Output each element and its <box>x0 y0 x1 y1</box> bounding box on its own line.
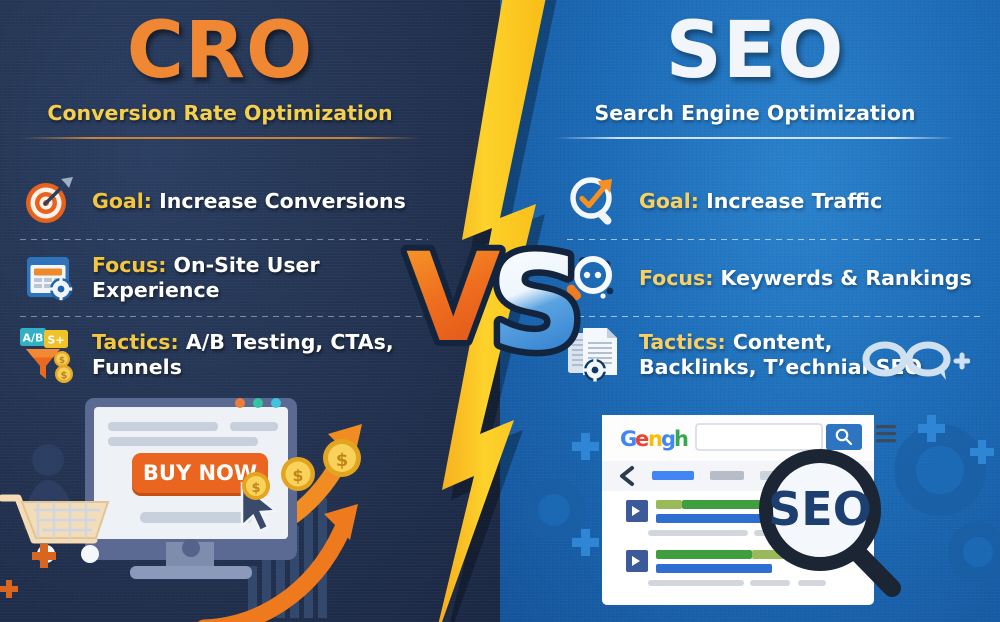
infographic-canvas: CRO Conversion Rate Optimization SEO Sea… <box>0 0 1000 622</box>
svg-text:V: V <box>406 232 500 362</box>
search-input-box <box>696 424 822 450</box>
search-logo: Gengh <box>620 427 689 451</box>
glasses-plus-icon <box>858 335 970 393</box>
cro-divider-rule <box>20 137 420 139</box>
seo-row-focus-text: Focus: Keywerds & Rankings <box>639 266 972 291</box>
cro-title: CRO <box>20 12 420 90</box>
cro-row-tactics-text: Tactics: A/B Testing, CTAs, Funnels <box>92 330 430 380</box>
seo-magnifier-label: SEO <box>768 482 872 536</box>
search-button <box>826 424 862 450</box>
seo-focus-value: Keywerds & Rankings <box>721 266 972 290</box>
svg-text:S+: S+ <box>47 334 64 347</box>
seo-row-goal-text: Goal: Increase Traffic <box>639 189 882 214</box>
cro-separator-1 <box>20 239 428 240</box>
window-dots <box>235 398 281 408</box>
seo-header: SEO Search Engine Optimization <box>555 12 955 139</box>
magnifier-check-arrow-icon <box>565 172 627 230</box>
seo-row-goal: Goal: Increase Traffic <box>565 172 985 230</box>
cro-separator-2 <box>20 316 428 317</box>
svg-text:S: S <box>490 232 584 362</box>
plus-marks <box>0 544 56 598</box>
svg-text:$: $ <box>61 370 68 381</box>
cro-tactics-key: Tactics: <box>92 330 179 354</box>
cro-goal-value: Increase Conversions <box>159 189 406 213</box>
seo-focus-key: Focus: <box>639 266 713 290</box>
seo-tactics-key: Tactics: <box>639 330 726 354</box>
cro-focus-key: Focus: <box>92 253 166 277</box>
cro-row-goal: Goal: Increase Conversions <box>18 172 430 230</box>
cro-goal-key: Goal: <box>92 189 152 213</box>
seo-divider-rule <box>555 137 955 139</box>
svg-text:$: $ <box>59 356 65 366</box>
cro-row-tactics: A/B S+ $ $ Tactics: A/B Testing, CTAs, F… <box>18 326 430 384</box>
seo-title: SEO <box>555 12 955 90</box>
ecommerce-conversion-illustration: BUY NOW $ $ $ <box>0 390 410 622</box>
svg-text:h: h <box>674 427 689 451</box>
cro-bullet-list: Goal: Increase Conversions <box>18 172 430 384</box>
svg-text:A/B: A/B <box>23 332 44 345</box>
seo-row-focus: Focus: Keywerds & Rankings <box>565 249 985 307</box>
hamburger-menu-lines <box>876 425 896 442</box>
seo-goal-key: Goal: <box>639 189 699 213</box>
svg-text:$: $ <box>251 481 260 496</box>
ab-funnel-coins-icon: A/B S+ $ $ <box>18 326 80 384</box>
seo-separator-1 <box>567 239 983 240</box>
cro-row-focus: Focus: On-Site User Experience <box>18 249 430 307</box>
cro-row-goal-text: Goal: Increase Conversions <box>92 189 406 214</box>
browser-gear-icon <box>18 249 80 307</box>
seo-subtitle: Search Engine Optimization <box>555 101 955 125</box>
svg-text:$: $ <box>292 466 303 485</box>
vs-label: V V S S <box>398 232 608 362</box>
seo-goal-value: Increase Traffic <box>706 189 882 213</box>
cro-subtitle: Conversion Rate Optimization <box>20 101 420 125</box>
cro-header: CRO Conversion Rate Optimization <box>20 12 420 139</box>
svg-text:$: $ <box>336 450 349 471</box>
buy-now-label: BUY NOW <box>143 461 257 485</box>
seo-tactics-value-line1: Content, <box>733 330 833 354</box>
target-arrow-icon <box>18 172 80 230</box>
seo-separator-2 <box>567 316 983 317</box>
cro-row-focus-text: Focus: On-Site User Experience <box>92 253 430 303</box>
